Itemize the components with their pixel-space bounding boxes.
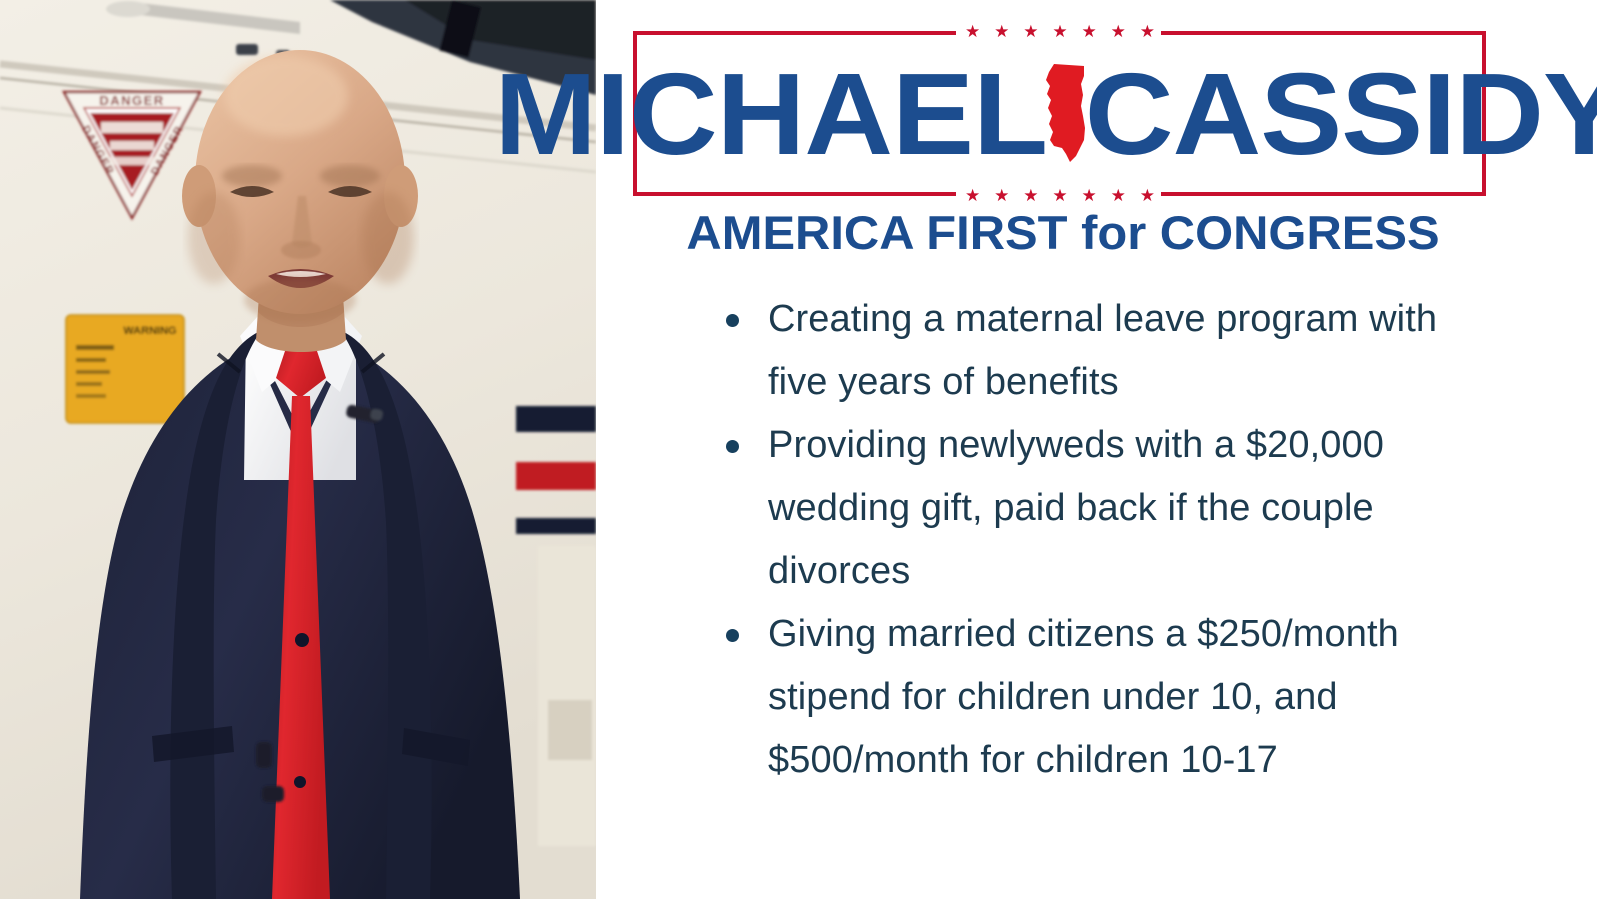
- promo-graphic: DANGER DANGER DANGER WARNING: [0, 0, 1597, 899]
- list-item: Creating a maternal leave program with f…: [706, 288, 1468, 414]
- star-icon: ★: [1052, 187, 1067, 204]
- candidate-first-name: MICHAEL: [495, 56, 1048, 172]
- candidate-name: MICHAEL CASSIDY: [633, 31, 1486, 196]
- star-row-bottom: ★ ★ ★ ★ ★ ★ ★: [965, 187, 1155, 204]
- list-item-text: Giving married citizens a $250/month sti…: [768, 613, 1399, 781]
- svg-text:DANGER: DANGER: [99, 93, 164, 108]
- bullet-dot-icon: [726, 314, 739, 327]
- candidate-last-name: CASSIDY: [1085, 56, 1597, 172]
- list-item-text: Creating a maternal leave program with f…: [768, 298, 1437, 403]
- policy-bullet-list: Creating a maternal leave program with f…: [706, 288, 1556, 792]
- star-icon: ★: [1023, 187, 1038, 204]
- content-panel: ★ ★ ★ ★ ★ ★ ★ MICHAEL CASSIDY ★ ★ ★ ★: [596, 0, 1597, 899]
- star-icon: ★: [1082, 187, 1097, 204]
- bullet-dot-icon: [726, 629, 739, 642]
- bullet-dot-icon: [726, 440, 739, 453]
- list-item-text: Providing newlyweds with a $20,000 weddi…: [768, 424, 1384, 592]
- star-icon: ★: [1111, 187, 1126, 204]
- star-icon: ★: [1140, 187, 1155, 204]
- campaign-tagline: AMERICA FIRST for CONGRESS: [609, 208, 1518, 257]
- svg-text:WARNING: WARNING: [123, 325, 176, 337]
- list-item: Giving married citizens a $250/month sti…: [706, 603, 1468, 792]
- campaign-logo: ★ ★ ★ ★ ★ ★ ★ MICHAEL CASSIDY ★ ★ ★ ★: [626, 8, 1526, 268]
- list-item: Providing newlyweds with a $20,000 weddi…: [706, 414, 1468, 603]
- star-icon: ★: [965, 187, 980, 204]
- warning-sign: WARNING: [66, 315, 184, 423]
- star-icon: ★: [994, 187, 1009, 204]
